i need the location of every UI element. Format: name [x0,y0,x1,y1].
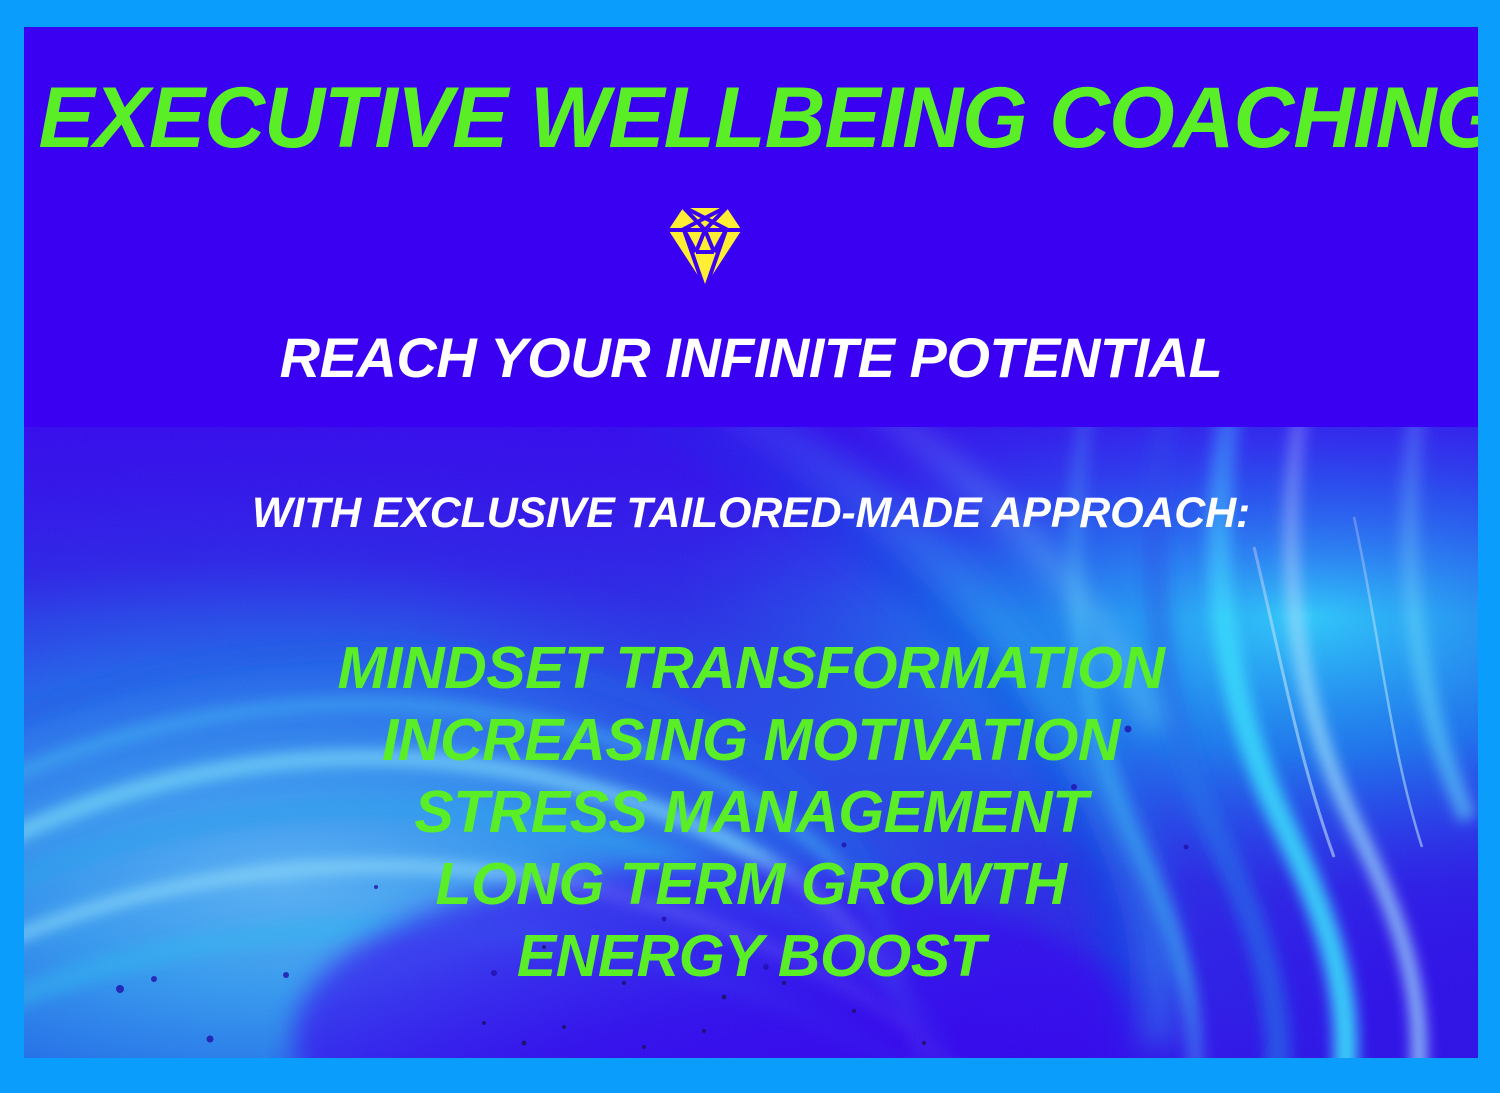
benefit-item-3: STRESS MANAGEMENT [24,776,1478,848]
benefit-item-1: MINDSET TRANSFORMATION [24,632,1478,704]
benefit-item-2: INCREASING MOTIVATION [24,704,1478,776]
body-content: WITH EXCLUSIVE TAILORED-MADE APPROACH: M… [24,427,1478,1058]
header-panel: EXECUTIVE WELLBEING COACHING [24,27,1478,427]
poster-card: EXECUTIVE WELLBEING COACHING [24,27,1478,1058]
approach-label: WITH EXCLUSIVE TAILORED-MADE APPROACH: [24,492,1478,535]
page-title: EXECUTIVE WELLBEING COACHING [39,75,1464,161]
benefit-item-4: LONG TERM GROWTH [24,848,1478,920]
poster-root: EXECUTIVE WELLBEING COACHING [0,0,1500,1093]
benefits-list: MINDSET TRANSFORMATION INCREASING MOTIVA… [24,632,1478,992]
gem-stone-icon [648,200,762,292]
page-subtitle: REACH YOUR INFINITE POTENTIAL [24,330,1478,386]
benefit-item-5: ENERGY BOOST [24,920,1478,992]
